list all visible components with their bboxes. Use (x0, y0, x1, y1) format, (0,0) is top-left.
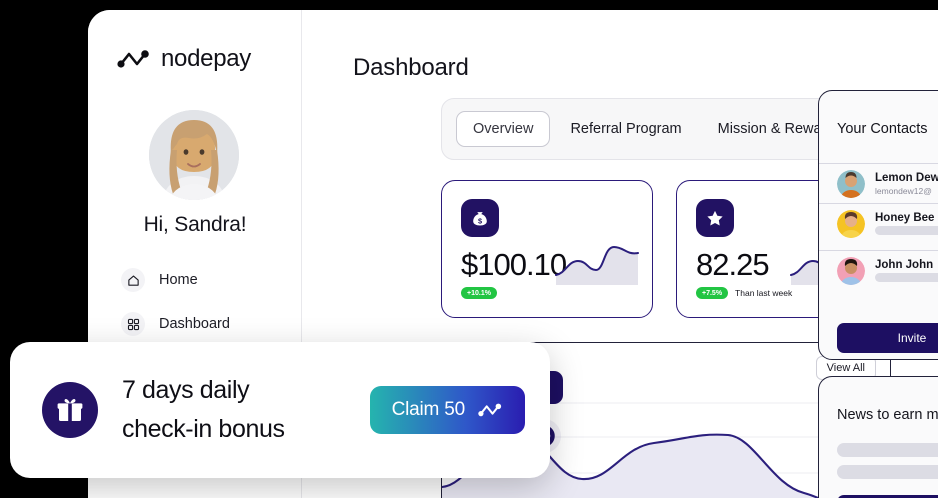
sidebar-item-home[interactable]: Home (88, 262, 302, 298)
svg-text:$: $ (478, 216, 482, 225)
contact-list-item[interactable]: Lemon Dew lemondew12@ (819, 163, 938, 203)
news-placeholder-line (837, 443, 938, 457)
contact-name: Lemon Dew (875, 172, 938, 184)
contact-avatar (837, 257, 865, 285)
brand-name: nodepay (161, 45, 251, 73)
home-icon (121, 268, 145, 292)
sidebar-nav: Home Dashboard (88, 262, 302, 342)
news-placeholder-line (837, 465, 938, 479)
stat-badge-note: Than last week (735, 288, 792, 298)
promo-banner: 7 days daily check-in bonus Claim 50 (10, 342, 550, 478)
contact-list-item[interactable]: Honey Bee (819, 203, 938, 243)
stat-card-balance[interactable]: $ $100.10 +10.1% (441, 180, 653, 318)
contact-text: Honey Bee (875, 212, 938, 235)
screenshot-stage: nodepay Hi, Sandra! (0, 0, 938, 498)
news-title: News to earn m (837, 407, 938, 423)
money-bag-icon: $ (461, 199, 499, 237)
sidebar-item-label: Dashboard (159, 316, 230, 332)
promo-text: 7 days daily check-in bonus (122, 371, 285, 449)
status-badge: +7.5% (696, 287, 728, 299)
gift-icon (42, 382, 98, 438)
nodepay-zigzag-icon (477, 402, 503, 418)
contact-email: lemondew12@ (875, 186, 938, 196)
contact-avatar (837, 170, 865, 198)
page-title: Dashboard (353, 54, 469, 82)
invite-button[interactable]: Invite (837, 323, 938, 353)
contact-email-placeholder (875, 273, 938, 282)
news-panel: News to earn m (818, 376, 938, 498)
stat-value: $100.10 (461, 247, 566, 283)
sparkline-chart (554, 239, 640, 285)
stat-badge-group: +10.1% (461, 287, 497, 299)
tab-overview[interactable]: Overview (456, 111, 550, 147)
contact-avatar (837, 210, 865, 238)
avatar[interactable] (149, 110, 239, 200)
contact-name: Honey Bee (875, 212, 938, 224)
claim-button[interactable]: Claim 50 (370, 386, 525, 434)
star-icon (696, 199, 734, 237)
stat-badge-group: +7.5% Than last week (696, 287, 792, 299)
status-badge: +10.1% (461, 287, 497, 299)
user-avatar-image (149, 110, 239, 200)
contact-name: John John (875, 259, 938, 271)
greeting-text: Hi, Sandra! (88, 213, 302, 237)
nodepay-zigzag-icon (117, 48, 150, 70)
claim-button-label: Claim 50 (392, 399, 465, 421)
sidebar-item-label: Home (159, 272, 198, 288)
contact-text: Lemon Dew lemondew12@ (875, 172, 938, 196)
contact-text: John John (875, 259, 938, 282)
tab-referral-program[interactable]: Referral Program (554, 112, 697, 146)
grid-icon (121, 312, 145, 336)
stat-value: 82.25 (696, 247, 769, 283)
contacts-title: Your Contacts (837, 121, 928, 137)
sidebar-item-dashboard[interactable]: Dashboard (88, 306, 302, 342)
contact-email-placeholder (875, 226, 938, 235)
brand-logo[interactable]: nodepay (117, 45, 251, 73)
contacts-panel: Your Contacts Lemon Dew lemondew12@ (818, 90, 938, 360)
contact-list-item[interactable]: John John (819, 250, 938, 290)
